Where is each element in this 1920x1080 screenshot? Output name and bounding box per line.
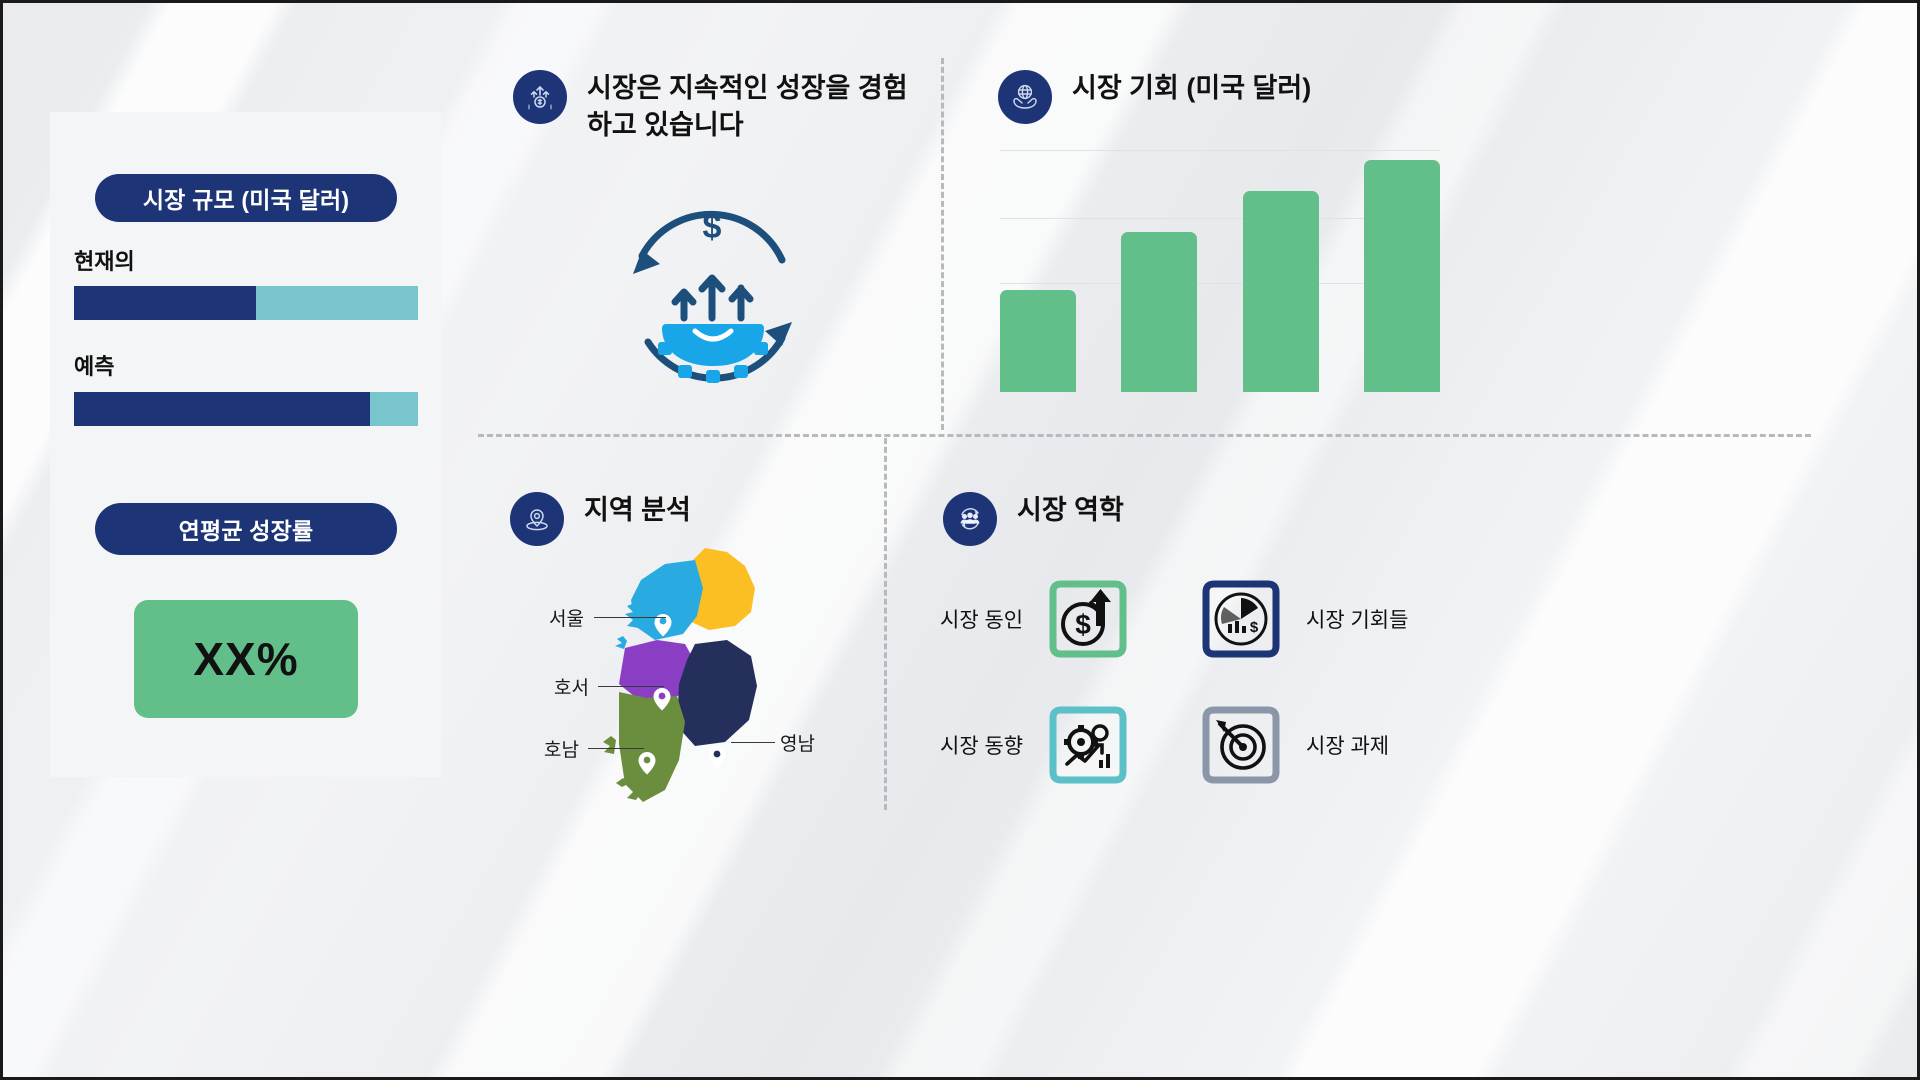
dynamics-item-label: 시장 기회들 [1306,604,1408,634]
map-leader-line [588,748,644,749]
divider-horizontal-mid [478,434,1811,437]
region-section-header: 지역 분석 [510,492,691,546]
current-label: 현재의 [74,244,135,276]
dynamics-section-title: 시장 역학 [1017,492,1124,529]
dynamics-item-opportunities[interactable]: $ 시장 기회들 [1198,576,1408,662]
growth-section-title: 시장은 지속적인 성장을 경험하고 있습니다 [587,70,913,145]
opportunity-section-title: 시장 기회 (미국 달러) [1072,70,1311,107]
location-pin-icon [510,492,564,546]
market-size-pill: 시장 규모 (미국 달러) [95,174,397,222]
globe-in-hands-icon [998,70,1052,124]
dynamics-item-label: 시장 동인 [940,604,1023,634]
map-region-honam [619,692,685,802]
map-leader-line [731,742,775,743]
map-label-honam: 호남 [544,735,579,762]
gears-trend-icon [1045,702,1131,788]
svg-text:$: $ [703,208,722,246]
market-size-card: 시장 규모 (미국 달러) 현재의 예측 연평균 성장률 XX% [50,112,442,777]
map-leader-line [598,686,664,687]
market-dynamics-grid: 시장 동인 $ $ 시장 기회들 [940,576,1470,808]
region-section-title: 지역 분석 [584,492,691,529]
map-leader-line [594,617,666,618]
dynamics-item-trends[interactable]: 시장 동향 [940,702,1131,788]
chart-bar [1364,160,1440,392]
opportunity-section-header: 시장 기회 (미국 달러) [998,70,1428,124]
dynamics-item-label: 시장 과제 [1306,730,1389,760]
growth-gear-arrows-dollar-icon: $ [592,190,832,405]
target-dart-icon [1198,702,1284,788]
current-bar-track [74,286,418,320]
map-label-hoseo: 호서 [554,673,589,700]
dynamics-item-challenges[interactable]: 시장 과제 [1198,702,1389,788]
chart-bars-group [1000,150,1440,392]
dollar-arrow-up-icon: $ [1045,576,1131,662]
cagr-pill: 연평균 성장률 [95,503,397,555]
map-label-seoul: 서울 [549,604,584,631]
chart-bar [1243,191,1319,392]
people-cycle-icon [943,492,997,546]
dynamics-section-header: 시장 역학 [943,492,1124,546]
divider-vertical-bottom [884,438,887,810]
cagr-value-box: XX% [134,600,358,718]
dynamics-item-label: 시장 동향 [940,730,1023,760]
money-growth-icon [513,70,567,124]
current-bar-fill [74,286,256,320]
growth-section-header: 시장은 지속적인 성장을 경험하고 있습니다 [513,70,913,145]
map-label-yeongnam: 영남 [780,729,815,756]
svg-text:$: $ [1075,609,1091,640]
divider-vertical-top [941,58,944,430]
forecast-label: 예측 [74,349,114,381]
dynamics-item-drivers[interactable]: 시장 동인 $ [940,576,1131,662]
forecast-bar-fill [74,392,370,426]
svg-text:$: $ [1250,619,1259,636]
chart-bar [1000,290,1076,392]
forecast-bar-track [74,392,418,426]
pie-chart-dollar-icon: $ [1198,576,1284,662]
chart-bar [1121,232,1197,392]
opportunity-bar-chart [1000,150,1440,392]
